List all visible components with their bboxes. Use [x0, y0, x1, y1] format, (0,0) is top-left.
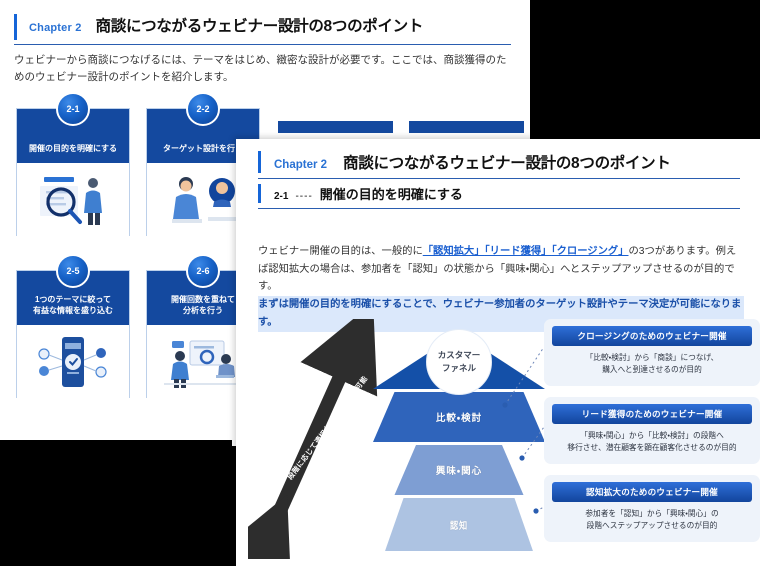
back-page-title: 商談につながるウェビナー設計の8つのポイント: [96, 14, 424, 36]
keyword-closing: 「クロージング」: [551, 246, 628, 257]
keyword-lead: 「リード獲得」: [485, 246, 552, 257]
callout-awareness[interactable]: 認知拡大のためのウェビナー開催 参加者を「認知」から「興味・関心」の 段階へステ…: [544, 475, 760, 542]
card-2-1[interactable]: 2-1 開催の目的を明確にする: [16, 108, 130, 236]
pyramid-layer-compare[interactable]: 比較・検討: [373, 392, 545, 442]
stage-arrow: 段階に応じて適切なテーマ設計が可能: [248, 319, 378, 559]
smartphone-network-check-icon: [30, 333, 116, 391]
customer-funnel-badge: カスタマー ファネル: [426, 329, 492, 395]
funnel-label-line-2: ファネル: [442, 362, 476, 375]
front-section-dashes: ----: [295, 191, 312, 202]
callout-closing-body: 「比較・検討」から「商談」につなげ、 購入へと到達させるのが目的: [552, 352, 752, 377]
card-badge-2-1: 2-1: [56, 92, 90, 126]
front-title-row: Chapter 2 商談につながるウェビナー設計の8つのポイント: [258, 151, 740, 173]
front-section-number: 2-1: [274, 191, 288, 202]
page-background-fill: [0, 440, 232, 566]
front-paragraph-1: ウェビナー開催の目的は、一般的に「認知拡大」「リード獲得」「クロージング」の3つ…: [258, 243, 744, 296]
magnifier-document-person-icon: [30, 171, 116, 229]
back-lede-text: ウェビナーから商談につなげるには、テーマをはじめ、緻密な設計が必要です。ここでは…: [14, 52, 509, 87]
callout-lead-body: 「興味・関心」から「比較・検討」の段階へ 移行させ、潜在顧客を顕在顧客化させるの…: [552, 430, 752, 455]
callout-awareness-line-1: 参加者を「認知」から「興味・関心」の: [552, 508, 752, 520]
front-slide: Chapter 2 商談につながるウェビナー設計の8つのポイント 2-1 ---…: [236, 139, 760, 566]
callout-awareness-body: 参加者を「認知」から「興味・関心」の 段階へステップアップさせるのが目的: [552, 508, 752, 533]
card-badge-2-6: 2-6: [186, 254, 220, 288]
card-illustration-2-1: [17, 163, 129, 236]
callout-lead[interactable]: リード獲得のためのウェビナー開催 「興味・関心」から「比較・検討」の段階へ 移行…: [544, 397, 760, 464]
callout-closing-title: クロージングのためのウェビナー開催: [552, 326, 752, 346]
card-illustration-2-5: [17, 325, 129, 398]
callout-closing[interactable]: クロージングのためのウェビナー開催 「比較・検討」から「商談」につなげ、 購入へ…: [544, 319, 760, 386]
front-chapter-tag: Chapter 2: [274, 159, 327, 171]
card-badge-2-5: 2-5: [56, 254, 90, 288]
pyramid-label-compare: 比較・検討: [436, 410, 482, 424]
pyramid-label-awareness: 認知: [450, 518, 468, 532]
front-page-title: 商談につながるウェビナー設計の8つのポイント: [343, 151, 671, 173]
customer-funnel-diagram: 段階に応じて適切なテーマ設計が可能 購入 比較・検討 興味・関心 認知: [248, 319, 760, 559]
pyramid-layer-awareness[interactable]: 認知: [385, 498, 533, 551]
callout-list: クロージングのためのウェビナー開催 「比較・検討」から「商談」につなげ、 購入へ…: [544, 319, 760, 553]
keyword-awareness: 「認知拡大」: [423, 246, 485, 257]
callout-closing-line-2: 購入へと到達させるのが目的: [552, 364, 752, 376]
back-chapter-tag: Chapter 2: [29, 22, 82, 34]
front-header-divider-2: [258, 208, 740, 209]
screenshot-stage: Chapter 2 商談につながるウェビナー設計の8つのポイント ウェビナーから…: [0, 0, 760, 566]
funnel-label-line-1: カスタマー: [438, 349, 481, 362]
front-p1-a: ウェビナー開催の目的は、一般的に: [258, 246, 423, 257]
front-section-row: 2-1 ---- 開催の目的を明確にする: [258, 184, 740, 203]
front-slide-header: Chapter 2 商談につながるウェビナー設計の8つのポイント 2-1 ---…: [258, 151, 740, 209]
callout-lead-line-2: 移行させ、潜在顧客を顕在顧客化させるのが目的: [552, 442, 752, 454]
two-people-target-icon: [160, 171, 246, 229]
callout-lead-title: リード獲得のためのウェビナー開催: [552, 404, 752, 424]
back-slide-header: Chapter 2 商談につながるウェビナー設計の8つのポイント: [14, 14, 514, 45]
callout-closing-line-1: 「比較・検討」から「商談」につなげ、: [552, 352, 752, 364]
callout-awareness-line-2: 段階へステップアップさせるのが目的: [552, 520, 752, 532]
callout-awareness-title: 認知拡大のためのウェビナー開催: [552, 482, 752, 502]
front-section-title: 開催の目的を明確にする: [320, 184, 463, 203]
pyramid-label-interest: 興味・関心: [436, 463, 482, 477]
back-slide-title-row: Chapter 2 商談につながるウェビナー設計の8つのポイント: [14, 14, 514, 40]
pyramid-layer-interest[interactable]: 興味・関心: [373, 445, 545, 495]
front-header-divider-1: [258, 178, 740, 179]
callout-lead-line-1: 「興味・関心」から「比較・検討」の段階へ: [552, 430, 752, 442]
back-header-divider: [14, 44, 511, 45]
card-2-5[interactable]: 2-5 1つのテーマに絞って 有益な情報を盛り込む: [16, 270, 130, 398]
card-badge-2-2: 2-2: [186, 92, 220, 126]
analytics-dashboard-people-icon: [160, 333, 246, 391]
